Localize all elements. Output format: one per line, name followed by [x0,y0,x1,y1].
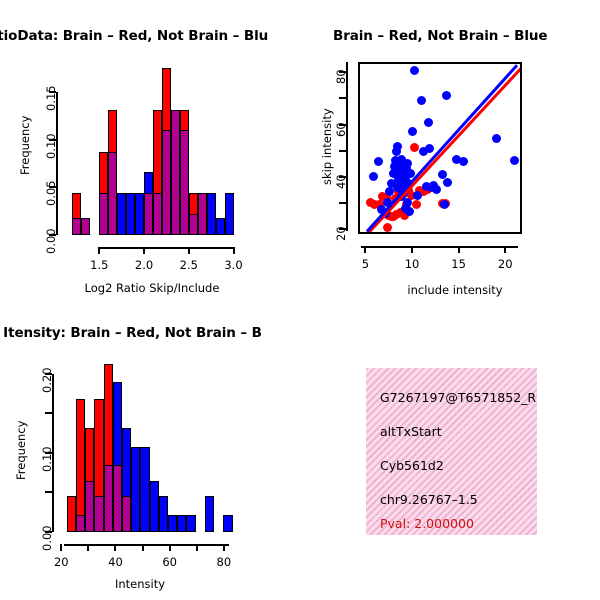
histogram-bar [207,193,216,235]
histogram-bar [177,515,186,532]
histogram-bar [76,399,85,532]
histogram-bar [135,193,144,235]
x-axis-tick [196,544,198,551]
scatter-point-not-brain [405,207,414,216]
y-axis-tick-label: 0.00 [44,228,58,254]
x-axis-tick-label: 2.0 [132,258,156,272]
scatter-point-not-brain [510,156,519,165]
x-axis-line [361,246,518,248]
x-axis-tick [223,544,225,551]
y-axis-tick [45,491,52,493]
histogram-bar [216,218,225,235]
histogram-bar [150,481,159,532]
histogram-bar-overlap [189,214,198,235]
x-axis-tick [504,246,506,253]
x-axis-tick [188,247,190,254]
histogram-bar [223,515,232,532]
x-axis-tick-label: 40 [103,555,127,569]
histogram-bar [225,193,234,235]
y-axis-tick-label: 80 [334,70,348,85]
histogram-bar [205,496,214,532]
scatter-point-not-brain [413,191,422,200]
scatter-point-not-brain [459,157,468,166]
y-axis-tick [339,97,346,99]
histogram-bar [186,515,195,532]
scatter-point-not-brain [403,159,412,168]
y-axis-tick-label: 0.10 [40,446,54,472]
histogram-bar-overlap [122,496,131,532]
scatter-point-brain [412,200,421,209]
x-axis-tick [142,544,144,551]
histogram-bar [131,447,140,532]
histogram-bar-overlap [94,496,103,532]
histogram-bar-overlap [144,193,153,235]
scatter-point-not-brain [410,66,419,75]
histogram-bar-overlap [171,110,180,235]
histogram-bar [140,447,149,532]
histogram-bar-overlap [99,193,108,235]
scatter-point-not-brain [417,96,426,105]
histogram-bar-overlap [76,515,85,532]
x-axis-tick-label: 1.5 [87,258,111,272]
y-axis-tick-label: 60 [334,122,348,137]
x-axis-tick [458,246,460,253]
figure-canvas: RatioData: Brain – Red, Not Brain – Blu … [0,0,600,600]
panel-intensity-scatter: Brain – Red, Not Brain – Blue skip inten… [300,0,600,300]
y-axis-tick [339,202,346,204]
x-axis-tick [411,246,413,253]
x-axis-tick [364,246,366,253]
scatter-point-not-brain [442,91,451,100]
gene-info-pval: Pval: 2.000000 [380,516,474,531]
y-axis-tick-label: 0.10 [44,133,58,159]
y-axis-tick-label: 0.15 [44,85,58,111]
histogram-bar-overlap [85,481,94,532]
scatter-point-not-brain [408,127,417,136]
scatter-point-not-brain [425,144,434,153]
histogram-bar-overlap [81,218,90,235]
gene-info-box: G7267197@T6571852_RaltTxStartCyb561d2chr… [366,368,537,535]
scatter-point-not-brain [440,200,449,209]
histogram-bar [117,193,126,235]
histogram-bar-overlap [113,465,122,532]
scatter-point-not-brain [492,134,501,143]
histogram-bar-overlap [180,130,189,235]
x-axis-tick [60,544,62,551]
x-axis-tick-label: 80 [212,555,236,569]
histogram-bar [126,193,135,235]
scatter-point-not-brain [374,157,383,166]
x-axis-tick-label: 20 [49,555,73,569]
panel-gene-info: G7267197@T6571852_RaltTxStartCyb561d2chr… [300,300,600,600]
scatter-point-not-brain [432,185,441,194]
y-axis-tick-label: 0.20 [40,367,54,393]
gene-info-line: altTxStart [380,424,442,439]
scatter-point-not-brain [424,118,433,127]
y-axis-tick [45,412,52,414]
x-axis-tick-label: 15 [447,257,471,271]
y-axis-line [346,62,348,231]
x-axis-tick [114,544,116,551]
scatter-point-not-brain [403,198,412,207]
scatter-point-brain [383,223,392,232]
histogram-bar-overlap [72,218,81,235]
y-axis-tick [339,150,346,152]
scatter-plot-area: 204060805101520 [300,0,600,300]
histogram-bar [168,515,177,532]
panel-intensity-histogram: ne Itensity: Brain – Red, Not Brain – B … [0,300,300,600]
y-axis-tick-label: 0.00 [40,525,54,551]
x-axis-tick-label: 3.0 [222,258,246,272]
x-axis-tick-label: 60 [158,555,182,569]
x-axis-line [99,247,233,249]
scatter-box [358,62,522,234]
histogram-bar-overlap [153,193,162,235]
scatter-point-brain [410,143,419,152]
x-axis-tick [98,247,100,254]
x-axis-tick-label: 5 [353,257,377,271]
x-axis-tick [143,247,145,254]
x-axis-tick-label: 20 [493,257,517,271]
x-axis-tick-label: 2.5 [177,258,201,272]
x-axis-tick [169,544,171,551]
histogram-bar [67,496,76,532]
gene-info-line: G7267197@T6571852_R [380,390,536,405]
gene-info-line: Cyb561d2 [380,458,444,473]
y-axis-tick-label: 40 [334,174,348,189]
scatter-point-not-brain [369,172,378,181]
x-axis-tick [87,544,89,551]
y-axis-line [56,92,58,235]
x-axis-tick [233,247,235,254]
histogram-bar [159,496,168,532]
histogram-bar-overlap [162,130,171,235]
y-axis-tick-label: 20 [334,226,348,241]
scatter-point-not-brain [393,142,402,151]
panel-ratio-histogram: RatioData: Brain – Red, Not Brain – Blu … [0,0,300,300]
x-axis-tick-label: 10 [400,257,424,271]
histogram-bar-overlap [198,193,207,235]
gene-info-line: chr9.26767–1.5 [380,492,478,507]
histogram-bar-overlap [108,152,117,235]
scatter-point-not-brain [443,178,452,187]
ratio-histogram-plot-area: 0.000.050.100.151.52.02.53.0 [0,0,300,300]
histogram-bar-overlap [104,465,113,532]
intensity-histogram-plot-area: 0.000.100.2020406080 [0,300,300,600]
y-axis-tick-label: 0.05 [44,181,58,207]
